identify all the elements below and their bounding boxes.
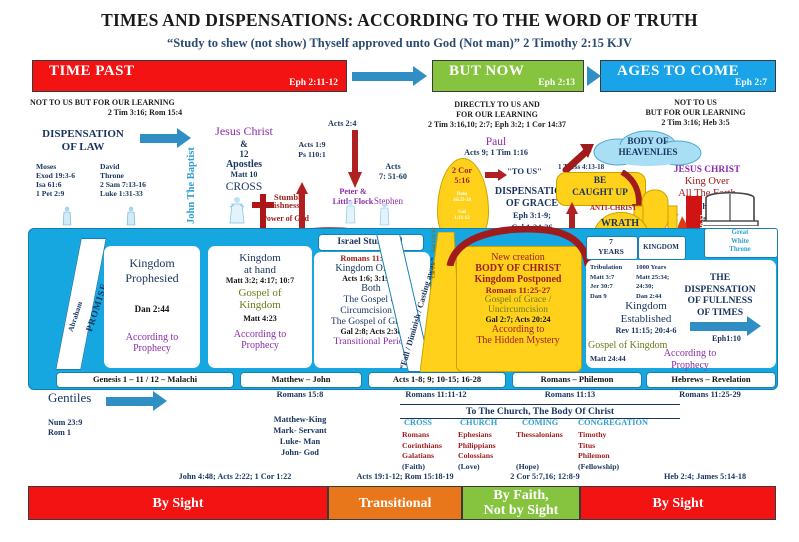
jesus-christ-label: Jesus Christ [196, 124, 292, 139]
gospel-writers-block: Matthew-King Mark- Servant Luke- Man Joh… [236, 414, 364, 458]
era-bar-but-now[interactable]: BUT NOW Eph 2:13 [432, 60, 584, 92]
body-of-heavenlies-label: BODY OF HEAVENLIES [592, 136, 704, 158]
great-white-throne-label: Great White Throne [704, 229, 776, 255]
dispensation-fullness-block: THE DISPENSATION OF FULLNESS OF TIMES [664, 272, 776, 318]
moses-figure-icon [60, 206, 74, 226]
coming-col-books: Thessalonians (Hope) [516, 430, 563, 472]
coming-col-header: COMING [522, 418, 558, 427]
rom-1-ref: Rom 1 [48, 428, 71, 437]
era-ref-ages-to-come: Eph 2:7 [735, 78, 767, 88]
ref-by-sight-2: Heb 2:4; James 5:14-18 [630, 472, 780, 481]
strip-transitional[interactable]: Transitional [328, 486, 462, 520]
panel-body-of-christ-text: New creation BODY OF CHRIST Kingdom Post… [454, 252, 582, 346]
moses-block: Moses Exod 19:3-6 Isa 61:6 1 Pet 2:9 [36, 162, 75, 198]
foolishness-label: Foolishness [258, 200, 300, 210]
peter-figure-icon [344, 200, 357, 224]
arrow-acts-2-4-down [348, 130, 362, 188]
to-the-church-header: To The Church, The Body Of Christ [400, 404, 680, 419]
page-title: TIMES AND DISPENSATIONS: ACCORDING TO TH… [0, 10, 799, 31]
ampersand: & [196, 139, 292, 149]
to-us-label: "TO US" [507, 166, 542, 176]
oval-2cor-516: 2 Cor 5:16 [437, 166, 487, 186]
bookbar-genesis-malachi[interactable]: Genesis 1 – 11 / 12 – Malachi [56, 372, 234, 388]
gentiles-label: Gentiles [48, 390, 91, 406]
num-23-9-ref: Num 23:9 [48, 418, 82, 427]
ref-by-faith: 2 Cor 5:7,16; 12:8-9 [476, 472, 614, 481]
note-ages-to-come: NOT TO US BUT FOR OUR LEARNING 2 Tim 3:1… [608, 98, 783, 128]
col-vertical-ref: Col 1:6 [432, 263, 438, 278]
romans-11-11-ref: Romans 11:11-12 [368, 390, 504, 399]
era-label-ages-to-come: AGES TO COME [601, 61, 739, 80]
twelve-label: 12 [196, 149, 292, 159]
cross-col-books: Romans Corinthians Galatians (Faith) [402, 430, 442, 472]
matt-24-44-ref: Matt 24:44 [590, 354, 626, 363]
david-figure-icon [124, 206, 138, 226]
arrow-past-to-now [352, 72, 414, 81]
era-bar-ages-to-come[interactable]: AGES TO COME Eph 2:7 [600, 60, 776, 92]
romans-15-8-ref: Romans 15:8 [240, 390, 360, 399]
bookbar-matthew-john[interactable]: Matthew – John [240, 372, 362, 388]
paul-label: Paul [436, 136, 556, 148]
congregation-col-header: CONGREGATION [578, 418, 648, 427]
strip-by-faith[interactable]: By Faith, Not by Sight [462, 486, 580, 520]
bookbar-acts[interactable]: Acts 1-8; 9; 10-15; 16-28 [368, 372, 506, 388]
arrow-fullness [690, 322, 748, 331]
jesus-christ-block: Jesus Christ & 12 Apostles Matt 10 CROSS [196, 124, 292, 193]
acts-1-9-block: Acts 1:9 Ps 110:1 [290, 140, 334, 159]
to-us-arrow [485, 168, 507, 180]
dispensation-of-law-heading: DISPENSATION OF LAW [28, 128, 138, 154]
ref-transitional: Acts 19:1-12; Rom 15:18-19 [330, 472, 480, 481]
stephen-figure-icon [378, 202, 391, 226]
strip-by-sight-2[interactable]: By Sight [580, 486, 776, 520]
note-time-past: NOT TO US BUT FOR OUR LEARNING 2 Tim 3:1… [30, 98, 260, 118]
era-ref-but-now: Eph 2:13 [538, 78, 575, 88]
great-white-throne-icon [700, 188, 760, 226]
acts-7-block: Acts 7: 51-60 [364, 162, 422, 181]
arrow-gentiles [106, 397, 154, 406]
arrow-caught-up-diagonal [562, 142, 596, 172]
matt10-ref: Matt 10 [196, 170, 292, 179]
paul-block: Paul Acts 9; 1 Tim 1:16 [436, 136, 556, 157]
romans-11-13-ref: Romans 11:13 [500, 390, 640, 399]
panel-kingdom-prophesied-text: Kingdom Prophesied Dan 2:44 According to… [104, 256, 200, 354]
era-ref-time-past: Eph 2:11-12 [289, 78, 338, 88]
jesus-christ-king-line1: JESUS CHRIST [648, 164, 766, 176]
church-col-header: CHURCH [460, 418, 497, 427]
bookbar-romans-philemon[interactable]: Romans – Philemon [512, 372, 642, 388]
seven-years-label: 7 YEARS [586, 237, 636, 256]
1cor-vertical-ref: 1 Cor 1:18,23 [288, 246, 294, 272]
kingdom-box-label: KINGDOM [638, 243, 684, 251]
ref-by-sight-1: John 4:48; Acts 2:22; 1 Cor 1:22 [120, 472, 350, 481]
era-bar-time-past[interactable]: TIME PAST Eph 2:11-12 [32, 60, 347, 92]
tribulation-refs: Tribulation Matt 3:7 Jer 30:7 Dan 9 [590, 263, 622, 301]
congregation-col-books: Timothy Titus Philemon (Fellowship) [578, 430, 619, 472]
acts-2-4-label: Acts 2:4 [328, 119, 356, 128]
romans-11-25-ref: Romans 11:25-29 [646, 390, 774, 399]
arrow-up-to-stumble [296, 182, 308, 232]
page-subtitle: “Study to shew (not show) Thyself approv… [0, 36, 799, 51]
church-col-books: Ephesians Philippians Colossians (Love) [458, 430, 496, 472]
dispensations-chart: TIMES AND DISPENSATIONS: ACCORDING TO TH… [0, 0, 799, 542]
note-but-now: DIRECTLY TO US AND FOR OUR LEARNING 2 Ti… [382, 100, 612, 130]
panel-kingdom-at-hand-text: Kingdom at hand Matt 3:2; 4:17; 10:7 Gos… [208, 252, 312, 351]
apostles-label: Apostles [196, 159, 292, 170]
arrow-law-to-john [140, 134, 178, 143]
israel-stumbled-label: Israel Stumbled [318, 236, 422, 247]
anti-christ-label: ANTI-CHRIST [590, 204, 637, 212]
gal-vertical-ref: Gal 1:11-12 [432, 227, 438, 252]
paul-ref: Acts 9; 1 Tim 1:16 [436, 148, 556, 157]
future-according-to-prophecy: According to Prophecy [636, 348, 744, 372]
jesus-figure-icon [228, 196, 246, 224]
eph-1-10-ref: Eph1:10 [712, 334, 741, 343]
david-block: David Throne 2 Sam 7:13-16 Luke 1:31-33 [100, 162, 146, 198]
cross-col-header: CROSS [404, 418, 432, 427]
era-label-but-now: BUT NOW [433, 61, 524, 80]
bookbar-hebrews-revelation[interactable]: Hebrews – Revelation [646, 372, 776, 388]
rom-vertical-ref: Rom 9:31-33 [288, 281, 294, 306]
era-label-time-past: TIME PAST [33, 61, 134, 80]
strip-by-sight-1[interactable]: By Sight [28, 486, 328, 520]
